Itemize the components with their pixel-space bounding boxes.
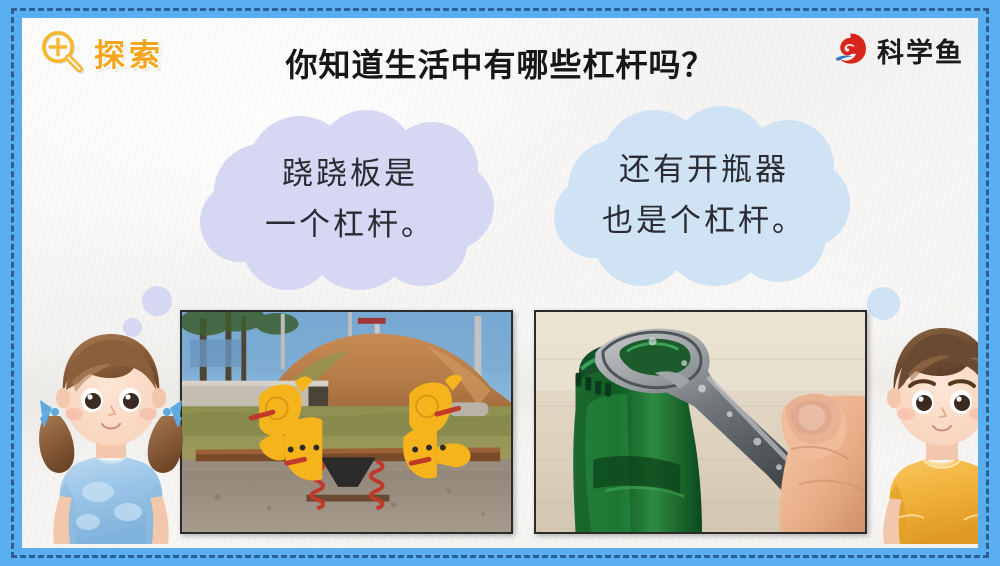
bottle-opener-photo[interactable]: JIN bbox=[534, 310, 867, 534]
boy-character bbox=[868, 314, 978, 544]
slide-paper-background: 探索 你知道生活中有哪些杠杆吗？ 科学鱼 bbox=[22, 18, 978, 548]
boy-bubble-line-1: 还有开瓶器 bbox=[619, 155, 789, 186]
seesaw-photo[interactable] bbox=[180, 310, 513, 534]
girl-character bbox=[36, 316, 186, 544]
boy-character-illustration bbox=[868, 314, 978, 544]
girl-bubble-text: 跷跷板是 一个杠杆。 bbox=[200, 110, 500, 290]
girl-character-illustration bbox=[36, 316, 186, 544]
brand-logo: 科学鱼 bbox=[830, 30, 964, 70]
girl-bubble-trail-dot-large bbox=[142, 286, 172, 316]
girl-bubble-line-2: 一个杠杆。 bbox=[265, 210, 435, 241]
boy-bubble-text: 还有开瓶器 也是个杠杆。 bbox=[554, 106, 854, 286]
explore-badge: 探索 bbox=[34, 24, 164, 80]
girl-bubble-line-1: 跷跷板是 bbox=[282, 159, 418, 190]
science-fish-logo-icon bbox=[830, 30, 870, 70]
girl-thought-bubble: 跷跷板是 一个杠杆。 bbox=[200, 110, 500, 290]
seesaw-photo-image bbox=[182, 312, 511, 532]
magnifier-plus-icon bbox=[34, 24, 90, 80]
boy-bubble-line-2: 也是个杠杆。 bbox=[602, 206, 806, 237]
explore-label: 探索 bbox=[94, 30, 164, 75]
boy-thought-bubble: 还有开瓶器 也是个杠杆。 bbox=[554, 106, 854, 286]
bottle-opener-photo-image: JIN bbox=[536, 312, 865, 532]
slide-root: 探索 你知道生活中有哪些杠杆吗？ 科学鱼 bbox=[0, 0, 1000, 566]
brand-name: 科学鱼 bbox=[877, 31, 964, 70]
